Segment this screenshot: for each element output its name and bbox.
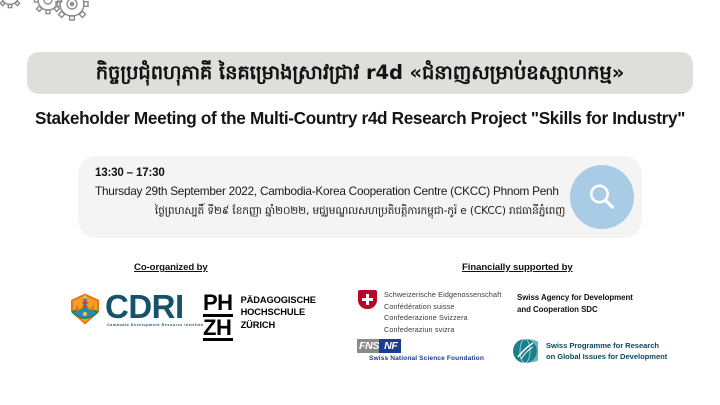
search-badge	[570, 165, 634, 229]
phzh-mark-line-2: ZH	[203, 317, 233, 342]
gears-icon	[0, 0, 120, 40]
financially-supported-heading: Financially supported by	[462, 262, 573, 273]
cdri-wordmark: CDRI	[105, 292, 204, 322]
co-organized-heading: Co-organized by	[134, 262, 208, 273]
logo-r4d-programme: Swiss Programme for Research on Global I…	[512, 338, 667, 364]
phzh-word-line-1: PÄDAGOGISCHE	[241, 294, 316, 306]
event-venue-english: Thursday 29th September 2022, Cambodia-K…	[95, 184, 559, 198]
snsf-wordmark: Swiss National Science Foundation	[369, 355, 484, 362]
english-subtitle: Stakeholder Meeting of the Multi-Country…	[0, 108, 720, 129]
swiss-name-it: Confederazione Svizzera	[384, 312, 501, 324]
event-venue-khmer: ថ្ងៃព្រហស្បតិ៍ ទី២៩ ខែកញ្ញា ឆ្នាំ២០២២, ម…	[100, 205, 620, 220]
sdc-line-2: and Cooperation SDC	[517, 304, 633, 316]
r4d-wordmark: Swiss Programme for Research on Global I…	[546, 340, 667, 363]
logo-sdc-text: Swiss Agency for Development and Coopera…	[517, 292, 633, 317]
sdc-line-1: Swiss Agency for Development	[517, 292, 633, 304]
phzh-mark: PH ZH	[203, 292, 233, 341]
snsf-mark: FNS NF	[357, 339, 417, 353]
khmer-title-banner: កិច្ចប្រជុំពហុភាគី នៃគម្រោងស្រាវជ្រាវ r4…	[27, 52, 693, 94]
phzh-wordmark: PÄDAGOGISCHE HOCHSCHULE ZÜRICH	[241, 294, 316, 331]
swiss-name-rm: Confederaziun svizra	[384, 324, 501, 336]
swiss-confederation-names: Schweizerische Eidgenossenschaft Confédé…	[384, 289, 501, 336]
swiss-name-de: Schweizerische Eidgenossenschaft	[384, 289, 501, 301]
event-info-card: 13:30 – 17:30 Thursday 29th September 20…	[78, 156, 642, 238]
phzh-word-line-3: ZÜRICH	[241, 319, 316, 331]
phzh-mark-line-1: PH	[203, 292, 233, 317]
r4d-line-1: Swiss Programme for Research	[546, 340, 667, 351]
khmer-title-text: កិច្ចប្រជុំពហុភាគី នៃគម្រោងស្រាវជ្រាវ r4…	[96, 63, 624, 83]
swiss-cross-icon	[358, 290, 377, 309]
phzh-word-line-2: HOCHSCHULE	[241, 306, 316, 318]
logo-snsf: FNS NF Swiss National Science Foundation	[357, 339, 484, 362]
search-icon	[585, 180, 619, 214]
cdri-tagline: Cambodia Development Resource Institute	[107, 323, 204, 327]
logo-phzh: PH ZH PÄDAGOGISCHE HOCHSCHULE ZÜRICH	[203, 292, 316, 341]
snsf-mark-nf: NF	[379, 339, 400, 353]
logo-cdri: CDRI Cambodia Development Resource Insti…	[68, 292, 204, 327]
globe-icon	[512, 338, 538, 364]
gears-decoration	[0, 0, 120, 40]
swiss-name-fr: Confédération suisse	[384, 301, 501, 313]
cdri-emblem-icon	[68, 292, 102, 326]
event-time: 13:30 – 17:30	[95, 166, 165, 179]
r4d-line-2: on Global Issues for Development	[546, 351, 667, 362]
snsf-mark-fns: FNS	[357, 339, 381, 353]
logo-swiss-confederation: Schweizerische Eidgenossenschaft Confédé…	[358, 289, 501, 336]
